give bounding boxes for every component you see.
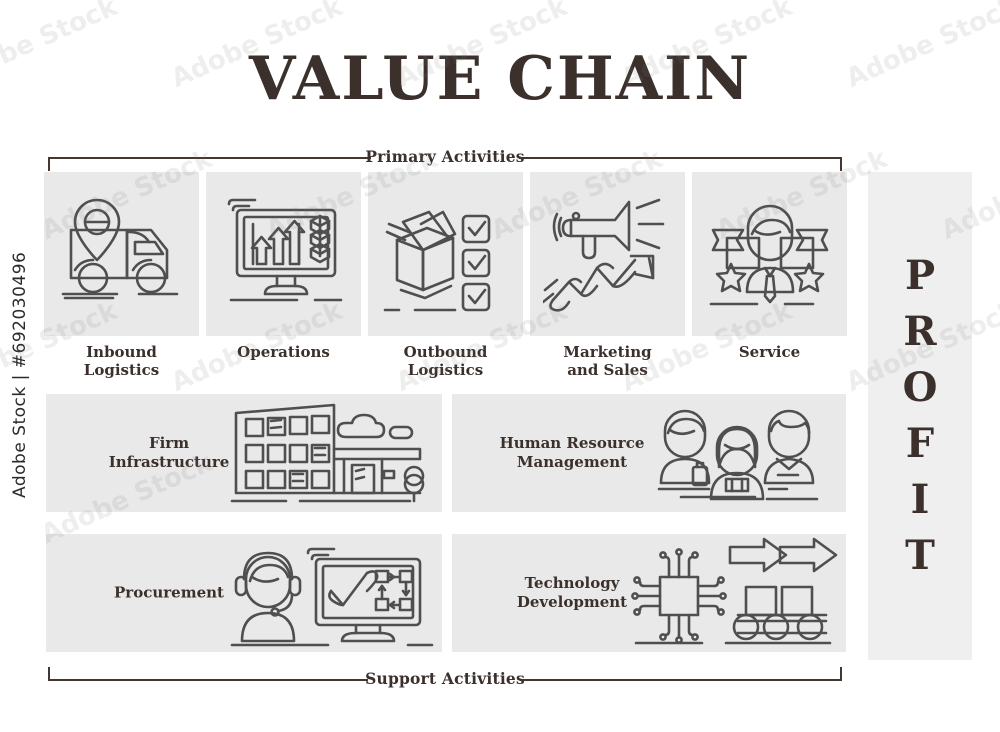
monitor-growth-chart-icon xyxy=(206,172,361,336)
open-box-checklist-icon xyxy=(368,172,523,336)
primary-label-operations: Operations xyxy=(196,343,371,361)
bracket-line-right xyxy=(519,157,842,159)
primary-card-inbound-logistics[interactable] xyxy=(44,172,199,336)
support-activities-bracket: Support Activities xyxy=(48,668,842,692)
label-line-1: Service xyxy=(682,343,857,361)
primary-label-service: Service xyxy=(682,343,857,361)
support-activities-label: Support Activities xyxy=(365,669,525,688)
support-card-firm-infrastructure[interactable]: Firm Infrastructure xyxy=(46,394,442,512)
primary-label-marketing-and-sales: Marketing and Sales xyxy=(520,343,695,379)
stock-credit-label: Adobe Stock | #692030496 xyxy=(10,252,30,498)
bracket-line-left xyxy=(48,157,371,159)
value-chain-infographic: VALUE CHAIN Primary Activities xyxy=(0,0,1000,732)
microchip-conveyor-icon xyxy=(628,537,840,649)
bracket-tick-right xyxy=(840,158,842,171)
profit-column: P R O F I T xyxy=(868,172,972,660)
bracket-line-right xyxy=(522,679,842,681)
primary-label-outbound-logistics: Outbound Logistics xyxy=(358,343,533,379)
primary-card-service[interactable] xyxy=(692,172,847,336)
office-building-icon xyxy=(222,397,438,509)
label-line-1: Inbound xyxy=(34,343,209,361)
primary-activities-row xyxy=(44,172,846,336)
label-line-2: Logistics xyxy=(358,361,533,379)
primary-activities-bracket: Primary Activities xyxy=(48,146,842,170)
support-card-technology-development[interactable]: Technology Development xyxy=(452,534,846,652)
three-people-team-icon xyxy=(634,397,840,509)
primary-label-inbound-logistics: Inbound Logistics xyxy=(34,343,209,379)
page-title: VALUE CHAIN xyxy=(0,44,1000,114)
primary-card-outbound-logistics[interactable] xyxy=(368,172,523,336)
label-line-1: Operations xyxy=(196,343,371,361)
label-line-1: Outbound xyxy=(358,343,533,361)
person-award-stars-icon xyxy=(692,172,847,336)
support-card-procurement[interactable]: Procurement xyxy=(46,534,442,652)
profit-letter: I xyxy=(911,478,930,522)
profit-letter: O xyxy=(903,366,938,410)
support-card-human-resource-management[interactable]: Human Resource Management xyxy=(452,394,846,512)
label-line-1: Marketing xyxy=(520,343,695,361)
bracket-tick-right xyxy=(840,667,842,680)
primary-activities-label: Primary Activities xyxy=(365,147,524,166)
bracket-line-left xyxy=(48,679,368,681)
profit-letter: T xyxy=(905,534,935,578)
profit-letter: P xyxy=(905,254,935,298)
bracket-tick-left xyxy=(48,158,50,171)
primary-card-operations[interactable] xyxy=(206,172,361,336)
label-line-2: Logistics xyxy=(34,361,209,379)
megaphone-rising-arrow-icon xyxy=(530,172,685,336)
headset-agent-monitor-icon xyxy=(222,537,438,649)
primary-card-marketing-and-sales[interactable] xyxy=(530,172,685,336)
label-line-2: and Sales xyxy=(520,361,695,379)
profit-letter: R xyxy=(903,310,936,354)
delivery-truck-with-location-pin-icon xyxy=(44,172,199,336)
profit-letter: F xyxy=(906,422,934,466)
